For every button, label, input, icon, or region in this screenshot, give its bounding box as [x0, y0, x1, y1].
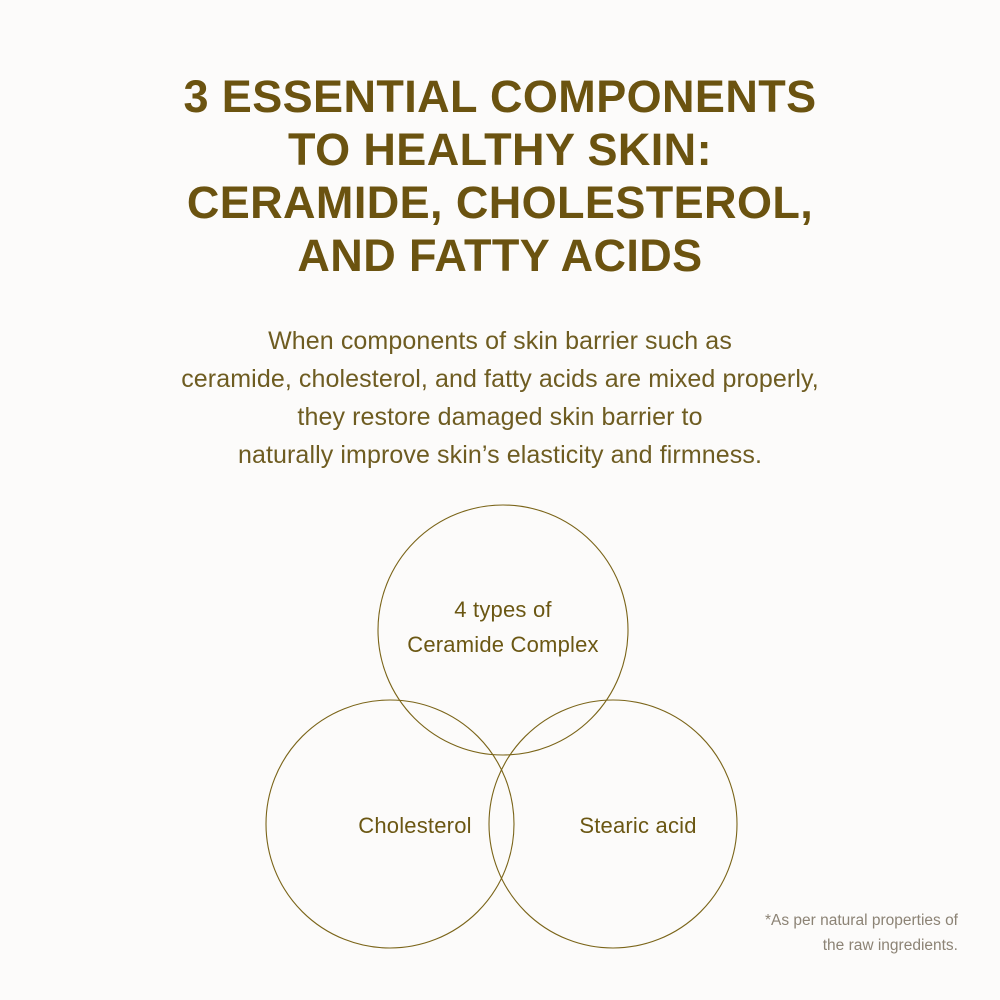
- headline-line-4: AND FATTY ACIDS: [0, 229, 1000, 282]
- body-paragraph: When components of skin barrier such as …: [0, 322, 1000, 474]
- venn-circles-graphic: [240, 480, 780, 970]
- infographic-page: 3 ESSENTIAL COMPONENTS TO HEALTHY SKIN: …: [0, 0, 1000, 1000]
- venn-label-stearic-acid: Stearic acid: [518, 808, 758, 843]
- page-title: 3 ESSENTIAL COMPONENTS TO HEALTHY SKIN: …: [0, 70, 1000, 282]
- body-line-1: When components of skin barrier such as: [0, 322, 1000, 360]
- footnote: *As per natural properties of the raw in…: [618, 908, 958, 958]
- body-line-2: ceramide, cholesterol, and fatty acids a…: [0, 360, 1000, 398]
- headline-line-2: TO HEALTHY SKIN:: [0, 123, 1000, 176]
- venn-label-ceramide-line-2: Ceramide Complex: [383, 627, 623, 662]
- footnote-line-2: the raw ingredients.: [618, 933, 958, 958]
- venn-label-ceramide-line-1: 4 types of: [383, 592, 623, 627]
- body-line-4: naturally improve skin’s elasticity and …: [0, 436, 1000, 474]
- headline-line-3: CERAMIDE, CHOLESTEROL,: [0, 176, 1000, 229]
- headline-line-1: 3 ESSENTIAL COMPONENTS: [0, 70, 1000, 123]
- venn-label-ceramide: 4 types of Ceramide Complex: [383, 592, 623, 662]
- venn-diagram: 4 types of Ceramide Complex Cholesterol …: [240, 480, 780, 970]
- venn-label-cholesterol: Cholesterol: [295, 808, 535, 843]
- body-line-3: they restore damaged skin barrier to: [0, 398, 1000, 436]
- footnote-line-1: *As per natural properties of: [618, 908, 958, 933]
